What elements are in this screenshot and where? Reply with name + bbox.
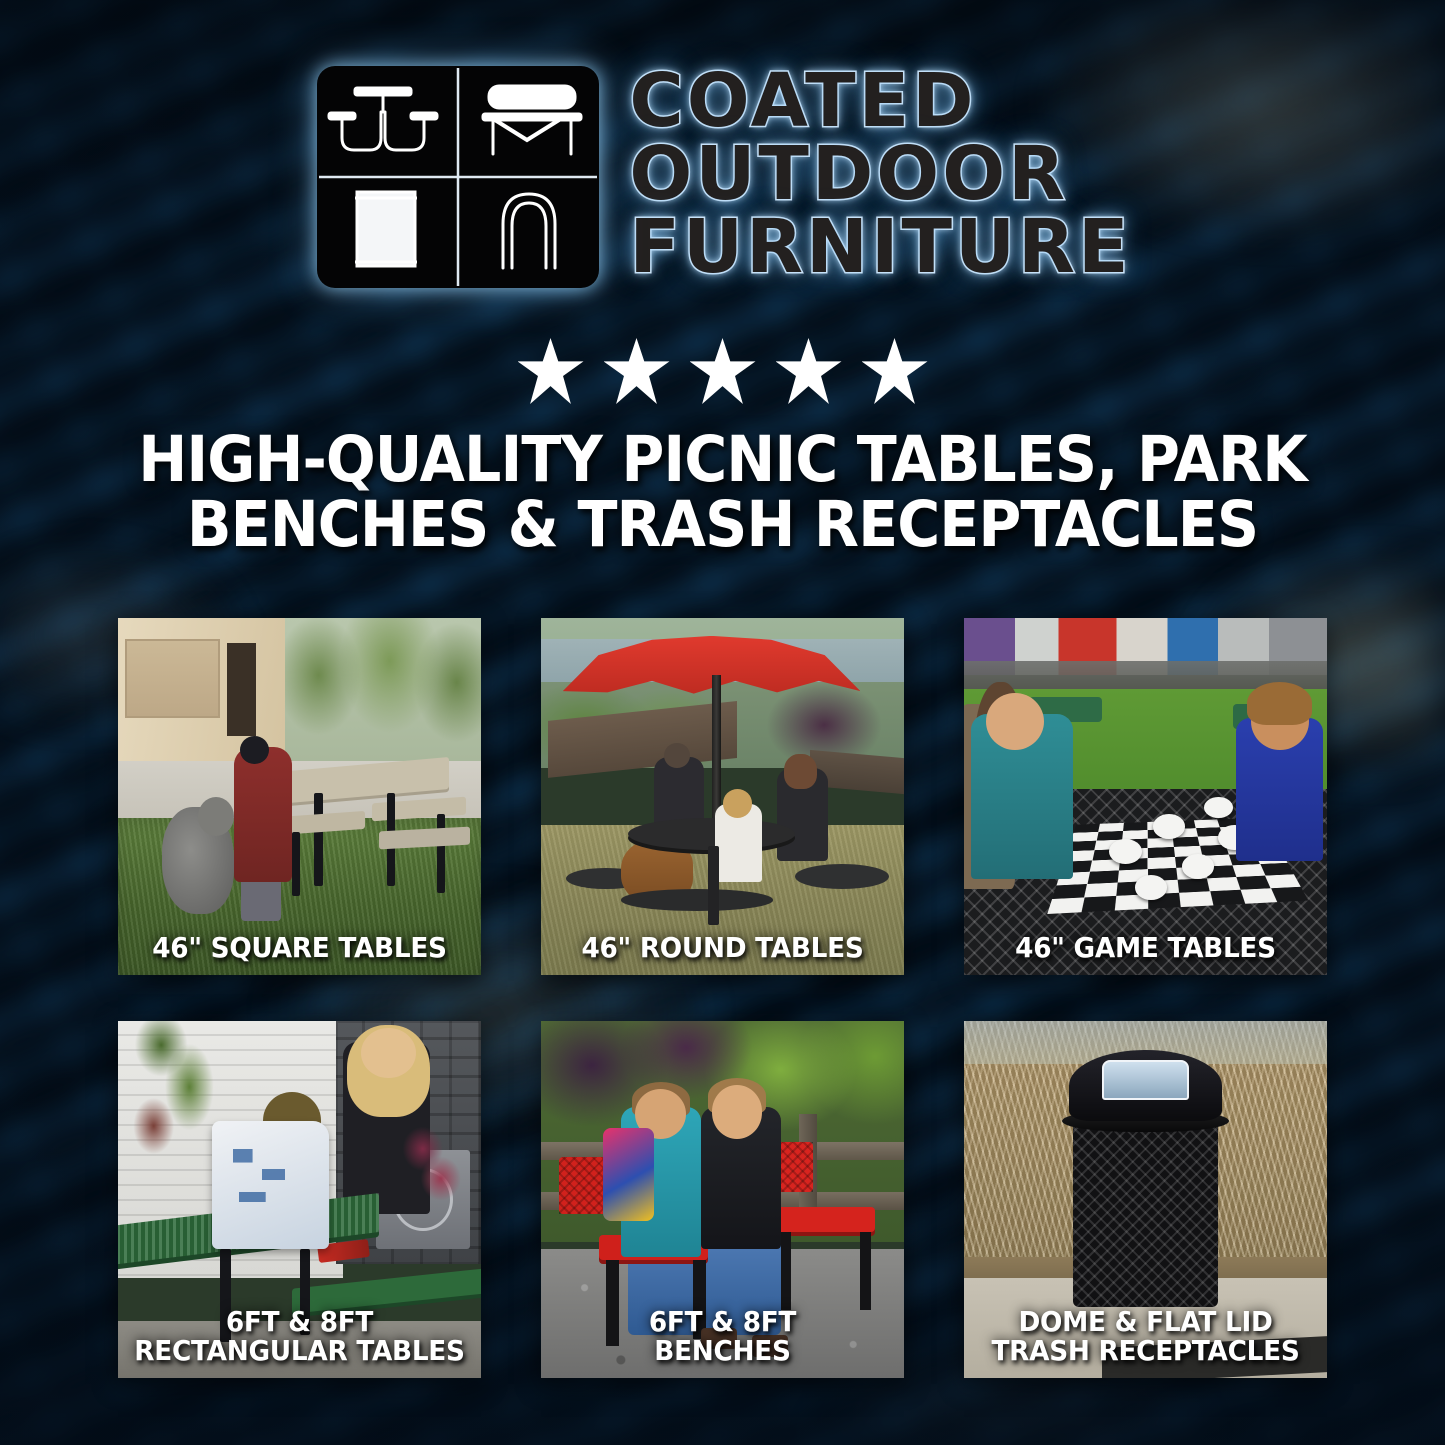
tile-caption: 6FT & 8FT RECTANGULAR TABLES — [129, 1307, 470, 1366]
four-quadrant-outdoor-furniture-icon — [313, 62, 603, 292]
product-tile-round-tables[interactable]: 46" ROUND TABLES — [541, 618, 904, 975]
wordmark-line-3: FURNITURE — [629, 212, 1131, 283]
tile-caption-line-1: 6FT & 8FT — [129, 1307, 470, 1337]
tile-caption-line-2: RECTANGULAR TABLES — [129, 1336, 470, 1366]
wordmark-line-2: OUTDOOR — [629, 139, 1131, 210]
star-rating — [0, 338, 1445, 404]
headline-line-2: BENCHES & TRASH RECEPTACLES — [51, 493, 1395, 558]
promotional-poster: COATED OUTDOOR FURNITURE HIGH-QUALITY PI… — [0, 0, 1445, 1445]
scene-game-tables — [964, 618, 1327, 975]
star-icon — [518, 338, 584, 404]
tile-caption-line-2: TRASH RECEPTACLES — [975, 1336, 1316, 1366]
star-icon — [776, 338, 842, 404]
scene-round-tables — [541, 618, 904, 975]
tile-caption: 46" ROUND TABLES — [552, 933, 893, 963]
brand-logo: COATED OUTDOOR FURNITURE — [0, 62, 1445, 292]
headline: HIGH-QUALITY PICNIC TABLES, PARK BENCHES… — [51, 428, 1395, 558]
star-icon — [690, 338, 756, 404]
headline-line-1: HIGH-QUALITY PICNIC TABLES, PARK — [51, 428, 1395, 493]
tile-caption-line-1: 46" GAME TABLES — [975, 933, 1316, 963]
tile-caption: 46" GAME TABLES — [975, 933, 1316, 963]
tile-caption-line-1: 46" ROUND TABLES — [552, 933, 893, 963]
tile-caption-line-1: 46" SQUARE TABLES — [129, 933, 470, 963]
product-tile-trash-receptacles[interactable]: DOME & FLAT LID TRASH RECEPTACLES — [964, 1021, 1327, 1378]
tile-caption: 46" SQUARE TABLES — [129, 933, 470, 963]
product-tile-rectangular-tables[interactable]: 6FT & 8FT RECTANGULAR TABLES — [118, 1021, 481, 1378]
tile-caption: DOME & FLAT LID TRASH RECEPTACLES — [975, 1307, 1316, 1366]
product-category-grid: 46" SQUARE TABLES — [118, 618, 1327, 1378]
tile-caption-line-1: DOME & FLAT LID — [975, 1307, 1316, 1337]
product-tile-game-tables[interactable]: 46" GAME TABLES — [964, 618, 1327, 975]
wordmark-line-1: COATED — [629, 66, 1131, 137]
product-tile-benches[interactable]: 6FT & 8FT BENCHES — [541, 1021, 904, 1378]
tile-caption-line-1: 6FT & 8FT — [552, 1307, 893, 1337]
star-icon — [604, 338, 670, 404]
tile-caption-line-2: BENCHES — [552, 1336, 893, 1366]
star-icon — [862, 338, 928, 404]
brand-wordmark: COATED OUTDOOR FURNITURE — [629, 62, 1131, 283]
scene-square-tables — [118, 618, 481, 975]
product-tile-square-tables[interactable]: 46" SQUARE TABLES — [118, 618, 481, 975]
tile-caption: 6FT & 8FT BENCHES — [552, 1307, 893, 1366]
